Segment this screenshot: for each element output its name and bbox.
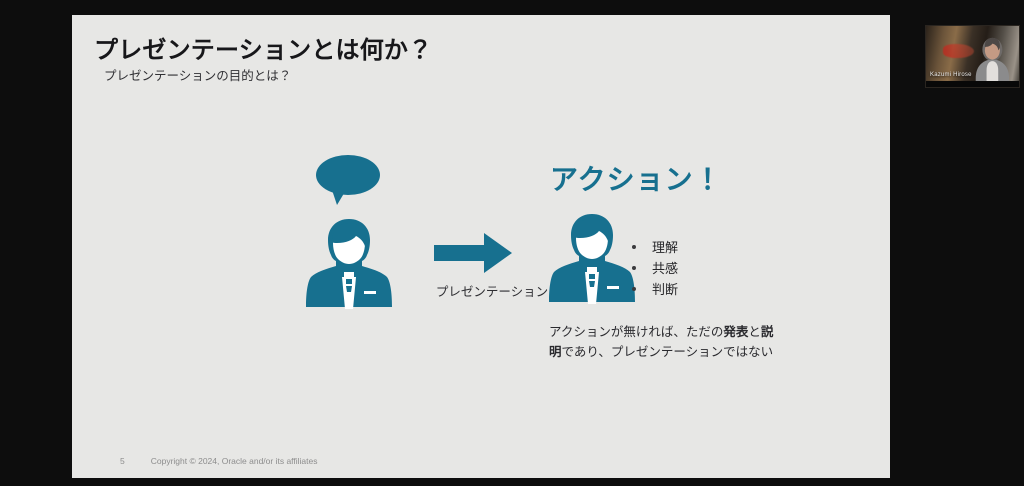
webcam-video-tile[interactable]: Kazumi Hirose xyxy=(925,25,1020,88)
transition-arrow-group: プレゼンテーション xyxy=(412,233,572,323)
businessman-icon xyxy=(549,212,635,304)
list-item: 共感 xyxy=(632,258,678,279)
copyright-text: Copyright © 2024, Oracle and/or its affi… xyxy=(151,456,318,466)
right-arrow-icon xyxy=(434,233,512,273)
speech-bubble-icon xyxy=(316,155,380,195)
bullet-label: 理解 xyxy=(652,237,678,258)
outcome-bullet-list: 理解 共感 判断 xyxy=(632,237,678,300)
businessman-icon xyxy=(306,217,392,309)
page-number: 5 xyxy=(120,456,125,466)
webcam-participant-silhouette xyxy=(971,37,1014,87)
bullet-dot-icon xyxy=(632,266,636,270)
bullet-label: 判断 xyxy=(652,279,678,300)
action-heading: アクション！ xyxy=(550,158,723,198)
bullet-dot-icon xyxy=(632,245,636,249)
list-item: 理解 xyxy=(632,237,678,258)
webcam-bottom-bar xyxy=(926,81,1019,87)
closing-note-bold1: 発表 xyxy=(723,325,748,339)
bullet-dot-icon xyxy=(632,287,636,291)
speech-bubble-tail-icon xyxy=(332,190,346,205)
slide-subtitle: プレゼンテーションの目的とは？ xyxy=(104,65,291,84)
closing-note-part3: であり、プレゼンテーションではない xyxy=(562,345,774,359)
closing-note-part1: アクションが無ければ、ただの xyxy=(549,325,723,339)
arrow-caption-label: プレゼンテーション xyxy=(412,281,572,300)
presentation-slide: プレゼンテーションとは何か？ プレゼンテーションの目的とは？ xyxy=(72,15,890,478)
page-title: プレゼンテーションとは何か？ xyxy=(94,30,432,65)
list-item: 判断 xyxy=(632,279,678,300)
left-speaker-group xyxy=(300,155,410,315)
webcam-background-accent xyxy=(943,44,975,57)
slide-footer: 5 Copyright © 2024, Oracle and/or its af… xyxy=(120,456,317,466)
bullet-label: 共感 xyxy=(652,258,678,279)
closing-note: アクションが無ければ、ただの発表と説明であり、プレゼンテーションではない xyxy=(549,322,781,362)
webcam-participant-name: Kazumi Hirose xyxy=(930,72,972,78)
closing-note-part2: と xyxy=(748,325,761,339)
right-speaker-group xyxy=(549,212,641,312)
screen-share-window: プレゼンテーションとは何か？ プレゼンテーションの目的とは？ xyxy=(0,0,1024,486)
